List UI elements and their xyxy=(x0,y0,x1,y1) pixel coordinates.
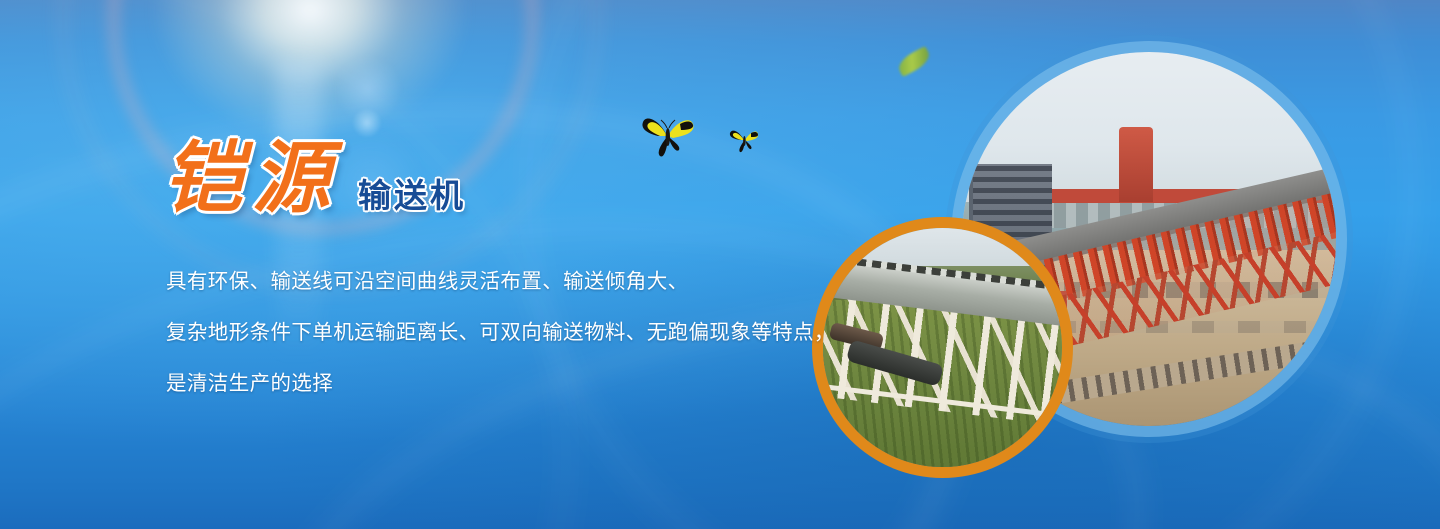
banner-description: 具有环保、输送线可沿空间曲线灵活布置、输送倾角大、 复杂地形条件下单机运输距离长… xyxy=(166,256,906,409)
description-line-3: 是清洁生产的选择 xyxy=(166,358,906,409)
description-line-2: 复杂地形条件下单机运输距离长、可双向输送物料、无跑偏现象等特点， xyxy=(166,307,906,358)
butterfly-icon xyxy=(640,112,696,158)
banner-title: 铠源输送机 xyxy=(164,140,466,218)
lens-flare-bokeh-1-icon xyxy=(334,55,402,123)
leaf-icon xyxy=(895,46,933,77)
sun-core-icon xyxy=(150,0,470,140)
brand-name: 铠源 xyxy=(164,140,340,218)
lens-flare-bokeh-2-icon xyxy=(352,108,382,138)
description-line-1: 具有环保、输送线可沿空间曲线灵活布置、输送倾角大、 xyxy=(166,256,906,307)
product-name: 输送机 xyxy=(358,179,466,212)
photo-crane xyxy=(1119,127,1153,202)
butterfly-icon xyxy=(729,127,759,153)
promo-banner: 铠源输送机 具有环保、输送线可沿空间曲线灵活布置、输送倾角大、 复杂地形条件下单… xyxy=(0,0,1440,529)
